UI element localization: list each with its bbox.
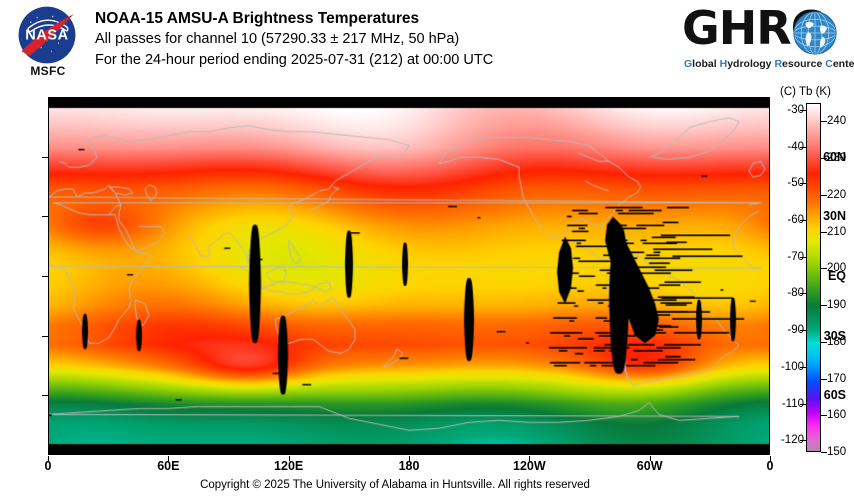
colorbar-kelvin-tick xyxy=(821,158,827,159)
colorbar-gradient xyxy=(806,103,821,452)
colorbar-kelvin-tick xyxy=(821,232,827,233)
colorbar-kelvin-tick xyxy=(821,415,827,416)
ytick-mark xyxy=(42,157,48,158)
title-block: NOAA-15 AMSU-A Brightness Temperatures A… xyxy=(95,8,675,71)
colorbar-celsius-tick xyxy=(800,367,806,368)
colorbar-header: (C) Tb (K) xyxy=(780,86,831,98)
ytick-mark xyxy=(42,276,48,277)
ytick-mark xyxy=(42,395,48,396)
xtick-label-6: 0 xyxy=(767,459,774,473)
colorbar-kelvin-label: 160 xyxy=(827,409,846,421)
title-subtitle-channel: All passes for channel 10 (57290.33 ± 21… xyxy=(95,29,675,50)
xtick-label-1: 60E xyxy=(157,459,179,473)
colorbar-kelvin-label: 230 xyxy=(827,152,846,164)
title-subtitle-period: For the 24-hour period ending 2025-07-31… xyxy=(95,50,675,71)
nasa-logo: NASA MSFC xyxy=(12,6,84,84)
colorbar-kelvin-tick xyxy=(821,342,827,343)
colorbar-kelvin-tick xyxy=(821,452,827,453)
colorbar-kelvin-tick xyxy=(821,268,827,269)
globe-icon xyxy=(792,10,838,56)
colorbar-celsius-tick xyxy=(800,440,806,441)
colorbar-celsius-tick xyxy=(800,257,806,258)
xtick-mark xyxy=(48,456,49,461)
xtick-mark xyxy=(529,456,530,461)
xtick-label-0: 0 xyxy=(45,459,52,473)
page-title: NOAA-15 AMSU-A Brightness Temperatures xyxy=(95,8,675,29)
colorbar-kelvin-label: 150 xyxy=(827,446,846,458)
colorbar-kelvin-label: 190 xyxy=(827,299,846,311)
colorbar-kelvin-label: 170 xyxy=(827,373,846,385)
xtick-mark xyxy=(168,456,169,461)
copyright-notice: Copyright © 2025 The University of Alaba… xyxy=(0,479,790,491)
colorbar-celsius-tick xyxy=(800,330,806,331)
colorbar-kelvin-label: 180 xyxy=(827,336,846,348)
colorbar-kelvin-label: 210 xyxy=(827,226,846,238)
ytick-mark xyxy=(42,336,48,337)
xtick-mark xyxy=(409,456,410,461)
colorbar-celsius-tick xyxy=(800,147,806,148)
colorbar-celsius-tick xyxy=(800,220,806,221)
map-plot-area xyxy=(48,97,770,455)
colorbar-celsius-tick xyxy=(800,183,806,184)
brightness-temperature-heatmap xyxy=(49,98,769,454)
svg-text:NASA: NASA xyxy=(25,28,68,44)
colorbar-kelvin-label: 240 xyxy=(827,115,846,127)
ytick-mark xyxy=(42,216,48,217)
nasa-center-label: MSFC xyxy=(12,64,84,78)
xtick-label-3: 180 xyxy=(399,459,420,473)
xtick-mark xyxy=(289,456,290,461)
xtick-label-4: 120W xyxy=(513,459,546,473)
xtick-mark xyxy=(770,456,771,461)
colorbar-celsius-tick xyxy=(800,404,806,405)
colorbar-celsius-tick xyxy=(800,293,806,294)
nasa-meatball-icon: NASA xyxy=(18,6,76,64)
colorbar-celsius-tick xyxy=(800,110,806,111)
ghrc-tagline: Global Hydrology Resource Center xyxy=(684,58,854,70)
colorbar-kelvin-label: 220 xyxy=(827,189,846,201)
ghrc-logo: GHRC Global Hydrology Resource Center xyxy=(682,6,840,80)
xtick-mark xyxy=(650,456,651,461)
colorbar-kelvin-tick xyxy=(821,379,827,380)
xtick-label-2: 120E xyxy=(274,459,303,473)
ytick-label-60s: 60S xyxy=(824,388,846,402)
colorbar-kelvin-tick xyxy=(821,121,827,122)
xtick-label-5: 60W xyxy=(637,459,663,473)
ytick-label-30n: 30N xyxy=(823,209,846,223)
colorbar-kelvin-tick xyxy=(821,305,827,306)
colorbar-kelvin-label: 200 xyxy=(827,262,846,274)
colorbar-kelvin-tick xyxy=(821,195,827,196)
